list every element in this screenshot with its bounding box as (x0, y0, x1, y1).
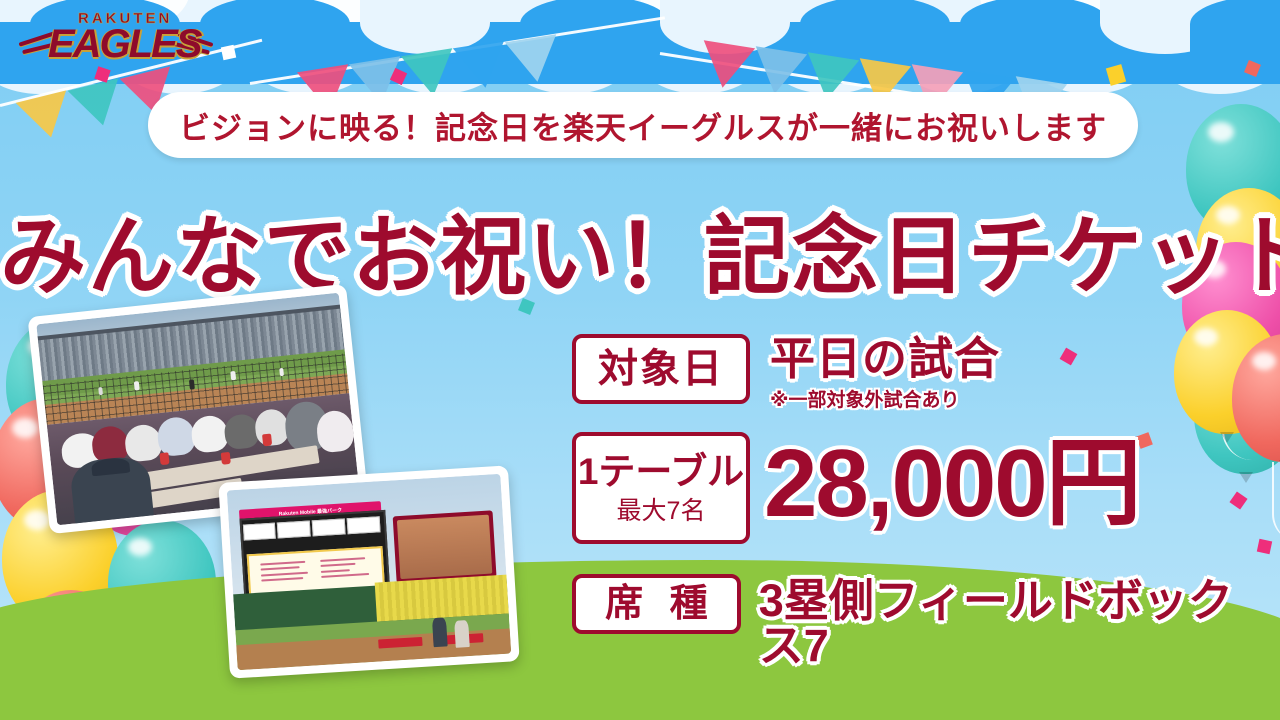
page-title: みんなでお祝い！記念日チケット (0, 186, 1280, 311)
value-seat-type: 3塁側フィールドボックス7 (759, 578, 1272, 668)
subtitle-banner: ビジョンに映る！記念日を楽天イーグルスが一緒にお祝いします (148, 92, 1138, 158)
label-text: 1テーブル (578, 453, 744, 490)
value-price: 28,000円 (764, 436, 1140, 532)
balloon-string (1272, 462, 1280, 542)
label-text: 対象日 (598, 349, 724, 389)
note-target-date: ※一部対象外試合あり (770, 391, 1000, 410)
ticket-details: 対象日 平日の試合 ※一部対象外試合あり 1テーブル 最大7名 28,000円 … (572, 334, 1272, 652)
bunting-flag (453, 40, 511, 92)
label-text: 席 種 (597, 585, 716, 623)
info-row-target-date: 対象日 平日の試合 ※一部対象外試合あり (572, 334, 1272, 432)
info-row-seat-type: 席 種 3塁側フィールドボックス7 (572, 574, 1272, 652)
label-sub-text: 最大7名 (617, 499, 706, 524)
label-box-table: 1テーブル 最大7名 (572, 432, 750, 544)
subtitle-text: ビジョンに映る！記念日を楽天イーグルスが一緒にお祝いします (179, 103, 1107, 148)
promo-poster: RAKUTEN EAGLES ビジョンに映る！記念日を楽天イーグルスが一緒にお祝… (0, 0, 1280, 720)
confetti (221, 45, 236, 60)
stadium-vision-photo: Rakuten Mobile 最強パーク (218, 465, 519, 678)
label-box-target-date: 対象日 (572, 334, 750, 404)
logo-bottom-text: EAGLES (48, 22, 200, 67)
rakuten-eagles-logo: RAKUTEN EAGLES (18, 6, 213, 68)
label-box-seat-type: 席 種 (572, 574, 741, 634)
value-target-date: 平日の試合 (770, 336, 1000, 381)
info-row-table-price: 1テーブル 最大7名 28,000円 (572, 432, 1272, 560)
bunting-flag (749, 46, 807, 98)
bunting-flag (697, 40, 755, 92)
bunting-flag (505, 34, 563, 86)
